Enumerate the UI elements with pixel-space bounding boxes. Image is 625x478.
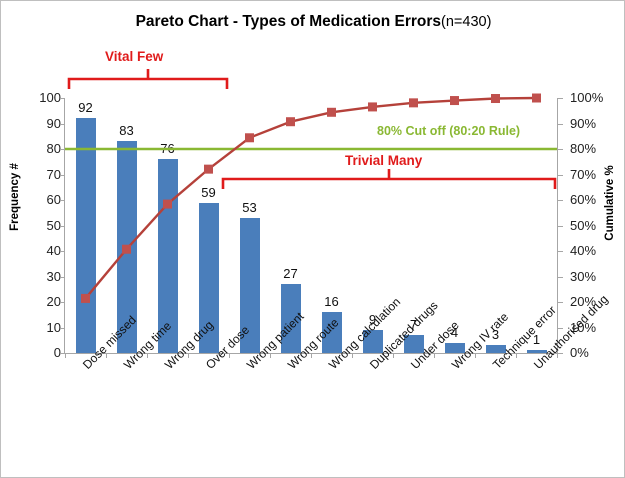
- y-axis-right-tick: [558, 124, 563, 125]
- y-axis-right-tick: [558, 226, 563, 227]
- y-axis-right-tick: [558, 302, 563, 303]
- y-axis-left-tick-label: 90: [15, 117, 61, 130]
- y-axis-right-tick-label: 50%: [570, 219, 622, 232]
- y-axis-right-tick: [558, 251, 563, 252]
- bar[interactable]: [76, 118, 96, 353]
- y-axis-left-tick-label: 10: [15, 321, 61, 334]
- bar-value-label: 59: [184, 185, 234, 200]
- y-axis-right-tick-label: 30%: [570, 270, 622, 283]
- bar-value-label: 27: [266, 266, 316, 281]
- bar-value-label: 83: [102, 123, 152, 138]
- y-axis-right-tick: [558, 277, 563, 278]
- y-axis-left-tick-label: 50: [15, 219, 61, 232]
- y-axis-right-tick-label: 90%: [570, 117, 622, 130]
- annotation-cutoff-line: 80% Cut off (80:20 Rule): [377, 124, 520, 138]
- y-axis-right-tick-label: 80%: [570, 142, 622, 155]
- y-axis-left-tick-label: 0: [15, 346, 61, 359]
- y-axis-right-tick-label: 100%: [570, 91, 622, 104]
- chart-title-sample-size: (n=430): [441, 14, 491, 30]
- y-axis-right-tick: [558, 200, 563, 201]
- bar-value-label: 92: [61, 100, 111, 115]
- chart-title: Pareto Chart - Types of Medication Error…: [1, 13, 625, 31]
- annotation-vital-few: Vital Few: [105, 49, 163, 64]
- y-axis-right-tick-label: 70%: [570, 168, 622, 181]
- bar-value-label: 76: [143, 141, 193, 156]
- x-axis-tick: [65, 353, 66, 358]
- chart-title-main: Pareto Chart - Types of Medication Error…: [136, 13, 441, 30]
- pareto-chart: Pareto Chart - Types of Medication Error…: [0, 0, 625, 478]
- y-axis-left-tick-label: 100: [15, 91, 61, 104]
- vital-few-bracket: [69, 69, 227, 89]
- annotation-trivial-many: Trivial Many: [345, 153, 422, 168]
- y-axis-right-tick: [558, 175, 563, 176]
- y-axis-right-tick: [558, 328, 563, 329]
- bar-value-label: 53: [225, 200, 275, 215]
- y-axis-left-tick-label: 40: [15, 244, 61, 257]
- y-axis-left-tick-label: 70: [15, 168, 61, 181]
- y-axis-right-tick-label: 40%: [570, 244, 622, 257]
- bar-value-label: 16: [307, 294, 357, 309]
- y-axis-left-tick-label: 20: [15, 295, 61, 308]
- y-axis-right-tick-label: 0%: [570, 346, 622, 359]
- y-axis-right-tick-label: 60%: [570, 193, 622, 206]
- y-axis-left-tick-label: 80: [15, 142, 61, 155]
- y-axis-left-tick-label: 30: [15, 270, 61, 283]
- y-axis-right-tick: [558, 98, 563, 99]
- y-axis-left-tick-label: 60: [15, 193, 61, 206]
- y-axis-right-tick: [558, 149, 563, 150]
